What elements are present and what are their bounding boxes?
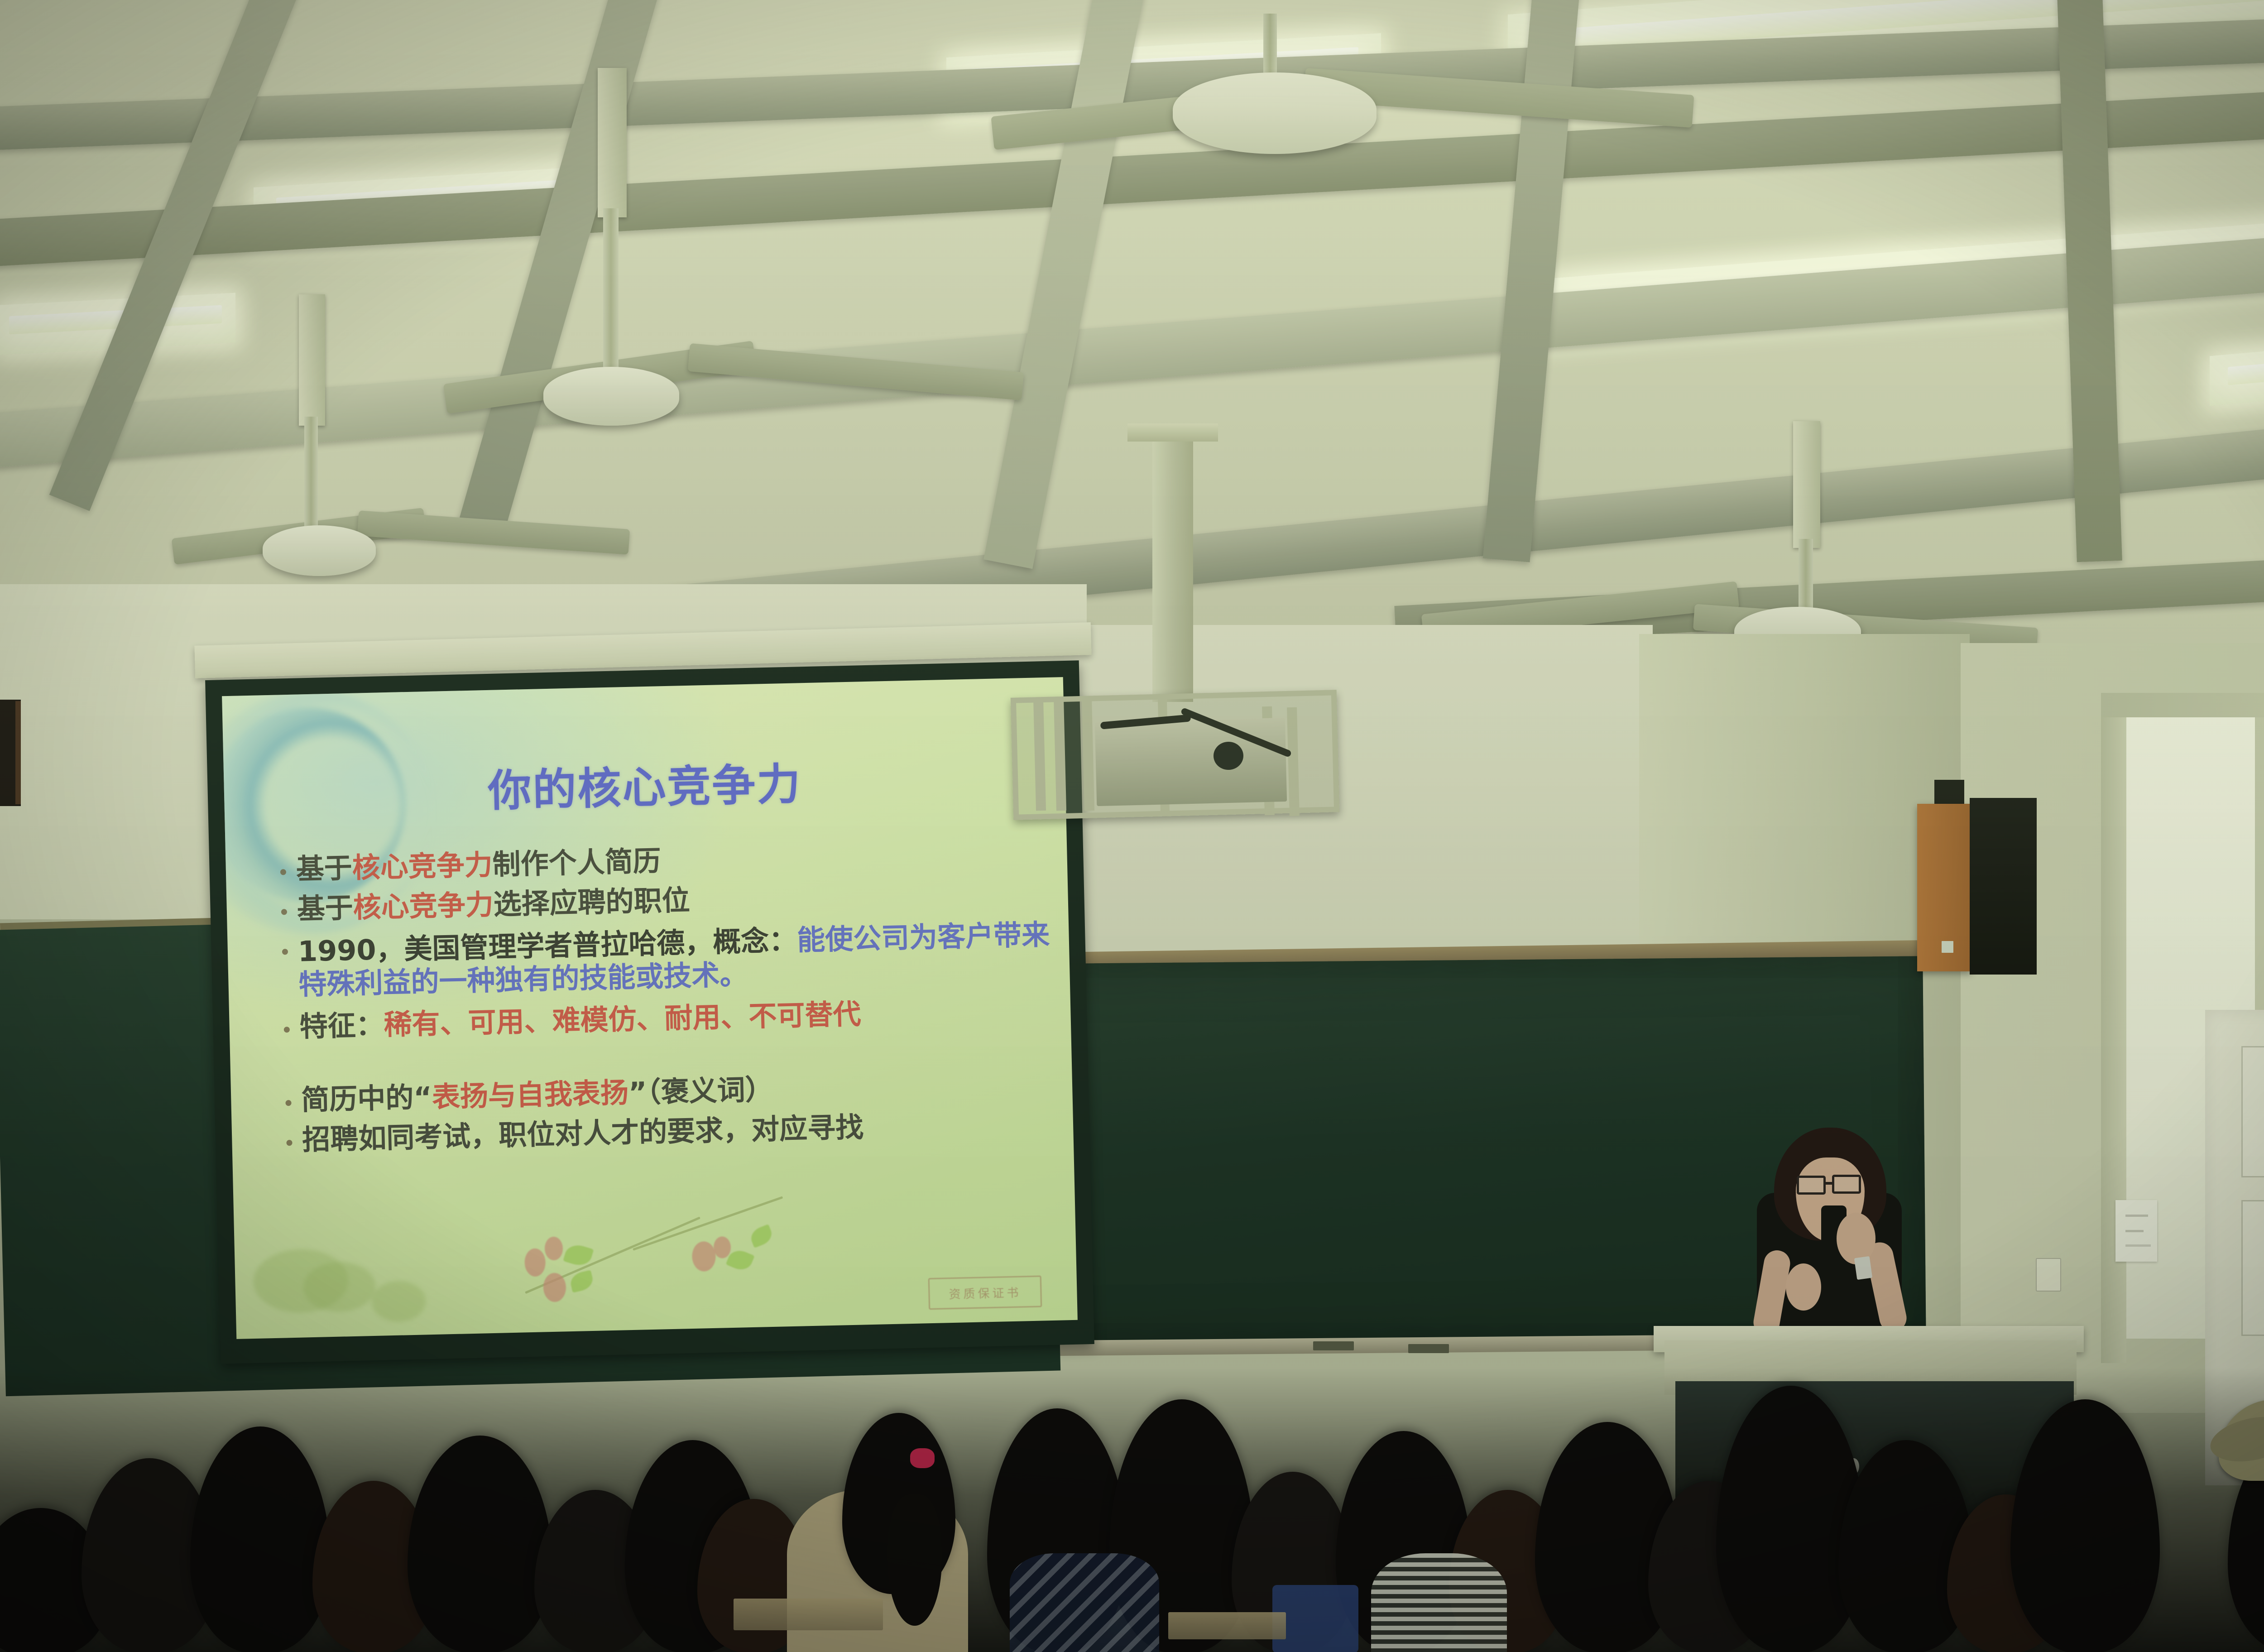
- audience-patterned-jacket: [1010, 1553, 1159, 1652]
- door-inset-panel-1: [2241, 1046, 2264, 1177]
- slide-seal-stamp: 资质保证书: [928, 1276, 1042, 1310]
- ceiling-fan-2-hanger: [598, 68, 627, 217]
- bullet-dot-icon: [286, 1140, 292, 1146]
- slide-bullet-4-text: 特征：稀有、可用、难模仿、耐用、不可替代: [299, 1000, 861, 1041]
- audience-desk-edge: [1168, 1612, 1286, 1639]
- ceiling-fan-1-downrod: [1263, 14, 1277, 77]
- slide-decoration-blossom-4: [692, 1241, 716, 1272]
- ceiling-fan-3-hanger: [299, 294, 325, 426]
- ceiling-fan-3-downrod: [304, 417, 318, 534]
- slide-bullet-list: 基于核心竞争力制作个人简历 基于核心竞争力选择应聘的职位 1990，美国管理学者…: [280, 838, 1065, 1166]
- chalk-eraser-1: [1313, 1341, 1354, 1350]
- ceiling-fan-2-motor: [543, 367, 679, 426]
- audience-desk-edge: [734, 1599, 883, 1630]
- wall-notice-line-3: [2125, 1244, 2151, 1247]
- presentation-slide[interactable]: 你的核心竞争力 基于核心竞争力制作个人简历 基于核心竞争力选择应聘的职位 199…: [222, 677, 1078, 1339]
- wall-notice-line-1: [2125, 1215, 2148, 1217]
- slide-bullet-3-text: 1990，美国管理学者普拉哈德，概念：能使公司为客户带来特殊利益的一种独有的技能…: [297, 917, 1062, 1001]
- slide-decoration-leaf-cluster-3: [371, 1280, 427, 1322]
- ceiling-fan-2-downrod: [603, 208, 619, 371]
- bullet-dot-icon: [280, 869, 286, 875]
- slide-decoration-blossom-5: [713, 1236, 731, 1258]
- presenter-hand-lower: [1786, 1263, 1821, 1311]
- ceiling-projector[interactable]: [1095, 718, 1287, 806]
- light-switch-plate[interactable]: [2036, 1258, 2061, 1292]
- speaker-badge-icon: [1942, 941, 1953, 953]
- projector-mast-plate: [1127, 423, 1218, 442]
- slide-bullet-6-text: 招聘如同考试，职位对人才的要求，对应寻找: [302, 1114, 864, 1154]
- presenter-glasses-bridge-icon: [1825, 1182, 1833, 1185]
- presenter-glasses-right-lens-icon: [1832, 1175, 1861, 1194]
- speaker-grille[interactable]: [1970, 798, 2037, 975]
- door-frame-header: [2101, 693, 2264, 717]
- slide-bullet-2-text: 基于核心竞争力选择应聘的职位: [297, 886, 690, 923]
- bullet-dot-icon: [281, 909, 287, 915]
- slide-bullet-2: 基于核心竞争力选择应聘的职位: [281, 878, 1060, 923]
- bullet-dot-icon: [284, 1027, 290, 1032]
- slide-bullet-1-text: 基于核心竞争力制作个人简历: [296, 847, 661, 883]
- ceiling-fan-3-motor: [263, 525, 376, 576]
- slide-bullet-6: 招聘如同考试，职位对人才的要求，对应寻找: [286, 1109, 1065, 1155]
- slide-decoration-blossom-1: [524, 1248, 546, 1277]
- chalk-eraser-2: [1408, 1344, 1449, 1353]
- presenter-wristwatch: [1854, 1256, 1872, 1280]
- audience-ponytail-strand: [887, 1494, 942, 1626]
- wall-notice-line-2: [2125, 1230, 2144, 1232]
- slide-bullet-3: 1990，美国管理学者普拉哈德，概念：能使公司为客户带来特殊利益的一种独有的技能…: [282, 917, 1062, 1001]
- slide-decoration-blossom-2: [544, 1236, 563, 1260]
- ceiling-fan-1-motor: [1173, 72, 1377, 154]
- bullet-dot-icon: [285, 1100, 291, 1106]
- lecture-hall-photo: ●Redleaf 你的核心竞争力 基于核心竞争力制作个人简历: [0, 0, 2264, 1652]
- wall-panel-left-edge-highlight: [15, 701, 21, 804]
- projector-mast: [1152, 430, 1193, 702]
- door-frame-left: [2101, 697, 2126, 1363]
- door-inset-panel-2: [2241, 1200, 2264, 1336]
- audience-hair-tie: [910, 1448, 935, 1468]
- slide-bullet-4: 特征：稀有、可用、难模仿、耐用、不可替代: [283, 996, 1063, 1042]
- bullet-dot-icon: [282, 949, 288, 955]
- slide-decoration-blossom-3: [543, 1273, 566, 1302]
- presenter-glasses-left-lens-icon: [1797, 1176, 1826, 1195]
- ceiling-fan-4-hanger: [1793, 421, 1820, 548]
- audience-striped-shirt-person: [1371, 1553, 1507, 1652]
- presenter-hand-holding-mic: [1837, 1213, 1875, 1264]
- slide-decoration-leaf-4: [748, 1224, 775, 1248]
